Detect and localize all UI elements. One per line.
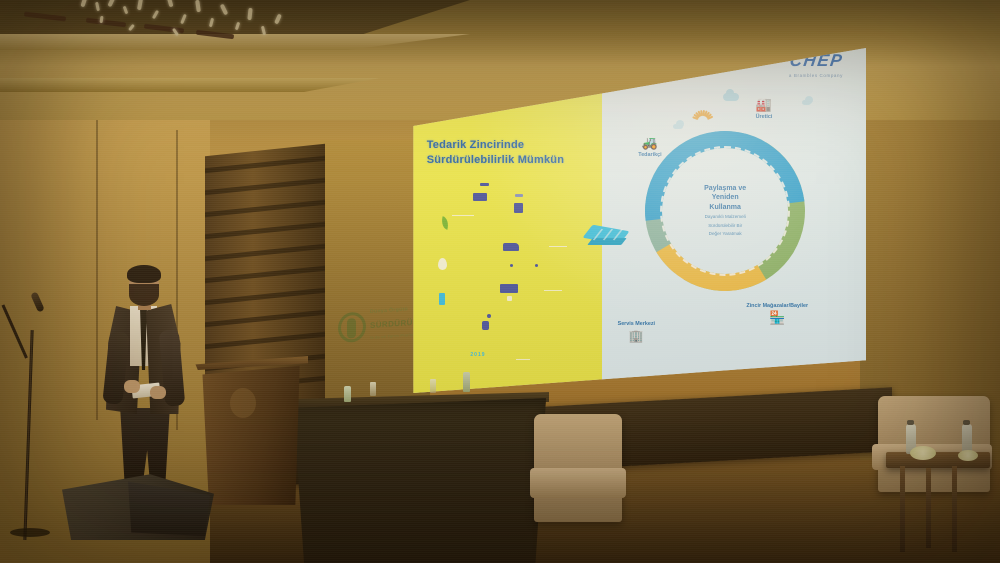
slide-title: Tedarik Zincirinde Sürdürülebilirlik Müm… [427,138,593,168]
slide-title-line1: Tedarik Zincirinde [427,138,593,153]
cloud-icon [723,93,739,101]
slide-content: CHEP a Brambles Company Tedarik Zincirin… [406,48,866,393]
flower-arrangement [910,446,936,460]
cycle-node-service-center-label: Servis Merkezi [618,321,655,327]
flower-arrangement [958,450,978,461]
cycle-node-chain-stores-label: Zincir Mağazalar/Bayiler [746,303,808,309]
cycle-center-text: Paylaşma ve Yeniden Kullanma Dayanıklı M… [680,168,770,254]
lectern-emblem [230,388,256,418]
cycle-body-line3: Değer Yaratmak [709,231,742,237]
chep-wordmark: CHEP [788,51,845,71]
yellow-panel-caption: 2019 [470,352,485,358]
cycle-heading-line3: Kullanma [709,203,741,212]
cycle-body-line1: Dayanıklı Malzemeli [705,214,746,220]
blue-pallet-icon [585,224,627,250]
warehouse-icon: 🏢 [629,330,644,342]
cycle-node-service-center: Servis Merkezi 🏢 [618,321,655,345]
divider-line [544,290,562,291]
cycle-body-line2: Sürdürülebilir Bir [708,223,742,229]
bottle-cap [907,420,914,425]
presenter-hand-left [124,380,140,393]
building-icon-roof [515,194,523,196]
chep-tagline: a Brambles Company [789,73,843,78]
presenter-hair [127,265,161,283]
warehouse-icon-door [507,296,512,301]
armchair-left-seat [530,468,626,498]
cloud-icon [673,124,683,129]
cycle-node-chain-stores: Zincir Mağazalar/Bayiler 🏪 [746,303,808,327]
slide-page-number: 6 [845,371,847,376]
cycle-node-manufacturer-label: Üretici [756,114,773,120]
factory-icon: 🏭 [756,98,772,111]
bottle-cap [963,420,970,425]
sun-icon [691,110,713,132]
factory-icon-stack [480,183,489,186]
cloud-icon [802,100,811,105]
divider-line [452,215,474,216]
presenter-beard [129,284,159,306]
lectern [196,360,304,505]
person-icon [482,321,489,330]
divider-line [516,359,530,360]
photo-scene: Dünya Örgütü SÜRDÜRÜLEBİLİR Gıda ve Tarı… [0,0,1000,563]
water-bottle [463,372,470,392]
battery-icon [439,293,445,305]
building-icon [514,203,523,213]
truck-wheel [535,264,538,267]
drinking-glass [370,382,376,396]
panel-table [283,398,546,563]
leaf-icon [439,216,450,230]
side-table-leg [900,466,905,552]
cycle-heading-line1: Paylaşma ve [704,184,746,193]
water-bottle [344,386,351,402]
cycle-node-supplier-label: Tedarikçi [638,152,661,158]
side-table-leg [926,468,931,548]
cycle-heading-line2: Yeniden [712,193,739,202]
projection-screen: CHEP a Brambles Company Tedarik Zincirin… [406,48,866,393]
chep-logo: CHEP a Brambles Company [789,51,843,78]
water-drop-icon [438,258,447,270]
cycle-node-supplier: 🚜 Tedarikçi [638,134,661,158]
warehouse-icon [500,284,518,293]
wall-logo-figure [347,318,356,339]
presenter-hand-right [150,386,166,399]
chandelier [70,0,300,54]
cycle-node-manufacturer: 🏭 Üretici [756,96,773,120]
person-icon-head [487,314,491,318]
store-icon: 🏪 [769,311,785,324]
microphone-base [10,528,50,537]
tractor-icon: 🚜 [642,136,658,149]
truck-icon [503,243,519,251]
divider-line [549,246,567,247]
side-table-leg [952,466,957,552]
presenter [96,268,188,500]
truck-wheel [510,264,513,267]
wall-logo-line1: Dünya Örgütü [370,306,408,315]
slide-title-line2: Sürdürülebilirlik Mümkün [427,153,593,168]
drinking-glass [430,379,436,393]
factory-icon [473,193,487,201]
supply-cycle-diagram: Paylaşma ve Yeniden Kullanma Dayanıklı M… [645,131,805,291]
